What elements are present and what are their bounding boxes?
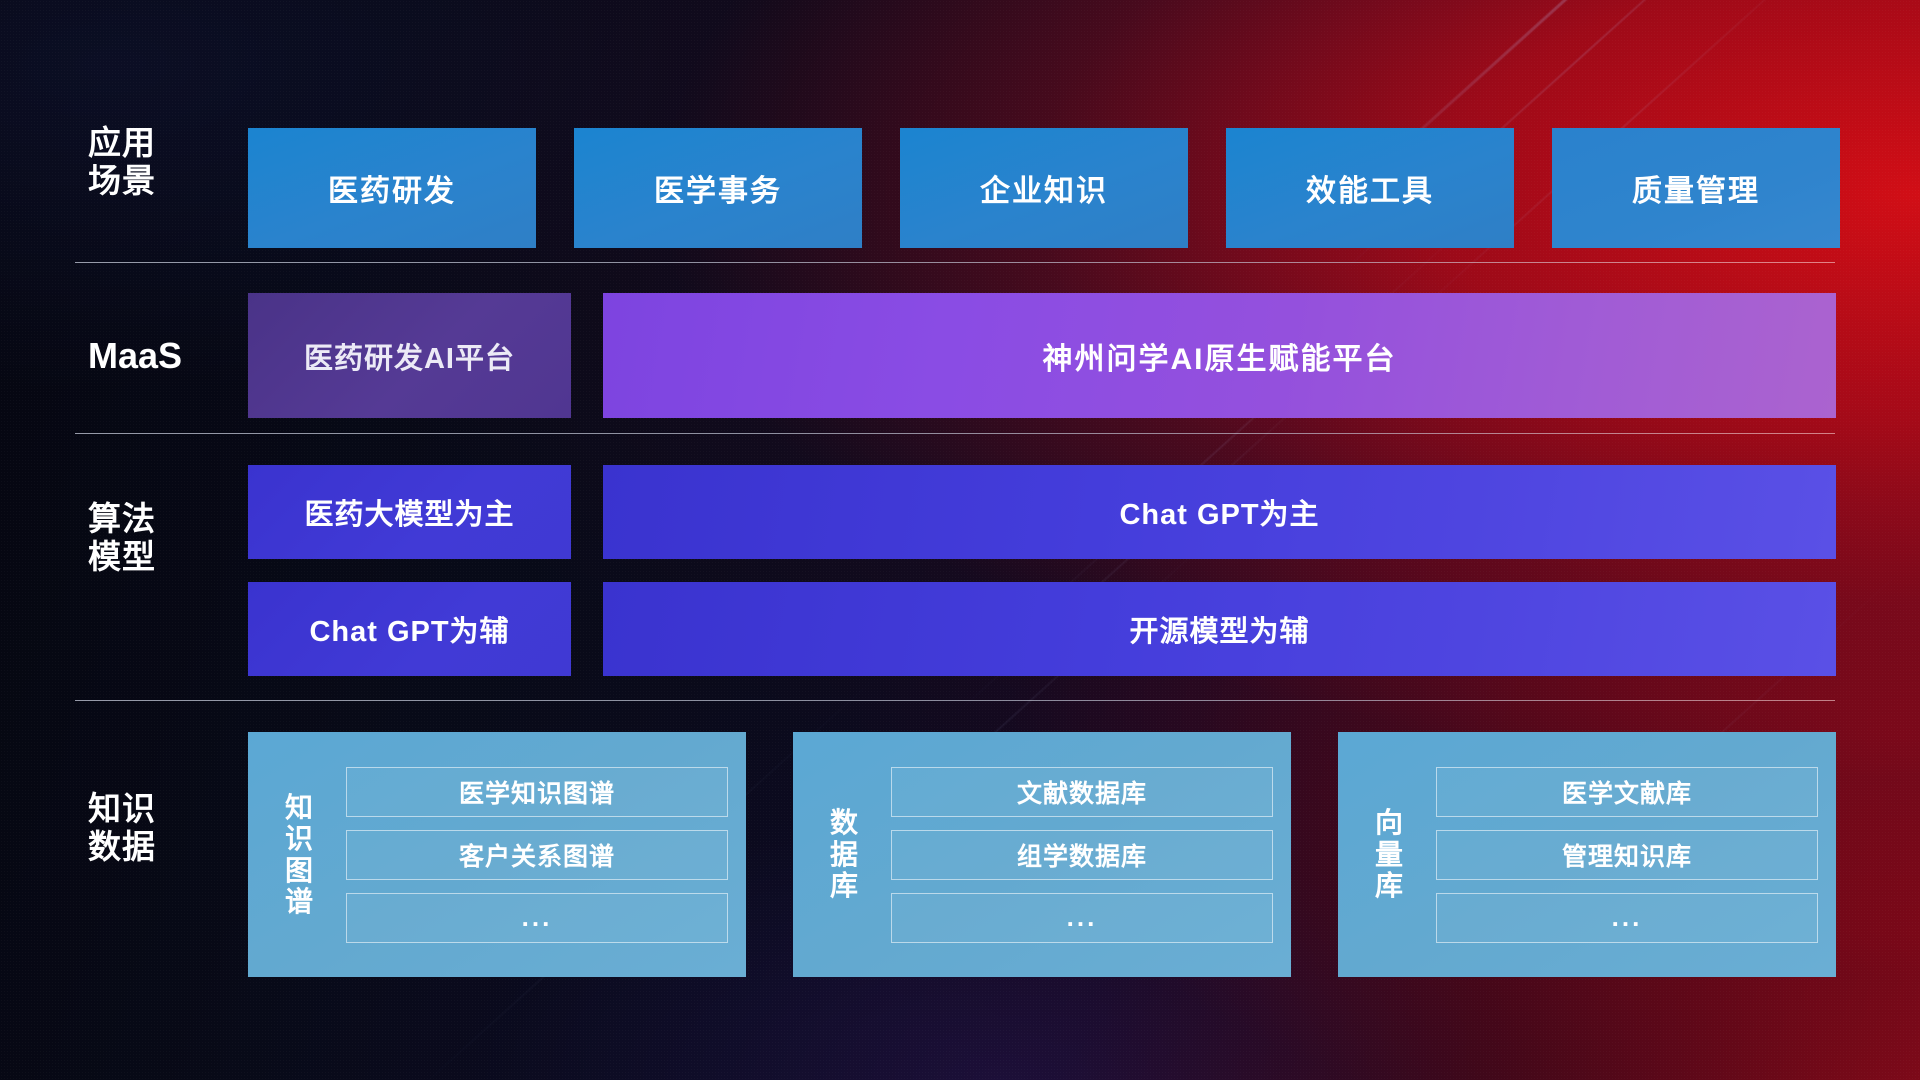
algorithm-right-0[interactable]: Chat GPT为主 bbox=[603, 465, 1836, 559]
maas-platform-medical-label: 医药研发AI平台 bbox=[304, 335, 515, 377]
knowledge-group-1: 数 据 库 文献数据库 组学数据库 ... bbox=[793, 732, 1291, 977]
knowledge-group-0-title: 知 识 图 谱 bbox=[270, 792, 328, 917]
algorithm-right-1-label: 开源模型为辅 bbox=[1129, 608, 1309, 650]
knowledge-item-2-2[interactable]: ... bbox=[1436, 893, 1818, 943]
knowledge-item-0-1[interactable]: 客户关系图谱 bbox=[346, 830, 728, 880]
maas-platform-shenzhou-label: 神州问学AI原生赋能平台 bbox=[1043, 334, 1397, 378]
knowledge-item-2-1-label: 管理知识库 bbox=[1562, 837, 1692, 873]
separator-algorithm-knowledge bbox=[75, 700, 1835, 701]
knowledge-group-0: 知 识 图 谱 医学知识图谱 客户关系图谱 ... bbox=[248, 732, 746, 977]
knowledge-item-0-0-label: 医学知识图谱 bbox=[459, 774, 615, 810]
knowledge-item-2-2-label: ... bbox=[1612, 902, 1643, 933]
scenario-card-3[interactable]: 效能工具 bbox=[1226, 128, 1514, 248]
algorithm-line-1: Chat GPT为辅 开源模型为辅 bbox=[248, 582, 1836, 676]
separator-scenario-maas bbox=[75, 262, 1835, 263]
row-label-maas-text: MaaS bbox=[88, 335, 220, 377]
knowledge-item-1-2[interactable]: ... bbox=[891, 893, 1273, 943]
knowledge-group-2-items: 医学文献库 管理知识库 ... bbox=[1436, 767, 1818, 943]
knowledge-item-0-0[interactable]: 医学知识图谱 bbox=[346, 767, 728, 817]
knowledge-item-1-0-label: 文献数据库 bbox=[1017, 774, 1147, 810]
row-label-maas: MaaS bbox=[88, 335, 220, 377]
knowledge-group-2-title: 向 量 库 bbox=[1360, 807, 1418, 901]
knowledge-item-1-0[interactable]: 文献数据库 bbox=[891, 767, 1273, 817]
algorithm-left-1-label: Chat GPT为辅 bbox=[309, 608, 509, 650]
row-label-scenario: 应用 场景 bbox=[88, 124, 220, 201]
row-label-knowledge-line2: 数据 bbox=[88, 828, 220, 866]
row-label-scenario-line1: 应用 bbox=[88, 124, 220, 162]
algorithm-row: 医药大模型为主 Chat GPT为主 Chat GPT为辅 开源模型为辅 bbox=[248, 465, 1836, 676]
scenario-card-0-label: 医药研发 bbox=[328, 166, 456, 210]
maas-platform-medical[interactable]: 医药研发AI平台 bbox=[248, 293, 571, 418]
knowledge-item-0-2[interactable]: ... bbox=[346, 893, 728, 943]
algorithm-left-0-label: 医药大模型为主 bbox=[304, 491, 514, 533]
scenario-card-4[interactable]: 质量管理 bbox=[1552, 128, 1840, 248]
maas-platform-shenzhou[interactable]: 神州问学AI原生赋能平台 bbox=[603, 293, 1836, 418]
knowledge-group-1-items: 文献数据库 组学数据库 ... bbox=[891, 767, 1273, 943]
algorithm-left-1[interactable]: Chat GPT为辅 bbox=[248, 582, 571, 676]
scenario-card-2[interactable]: 企业知识 bbox=[900, 128, 1188, 248]
row-label-scenario-line2: 场景 bbox=[88, 162, 220, 200]
knowledge-group-2: 向 量 库 医学文献库 管理知识库 ... bbox=[1338, 732, 1836, 977]
row-label-algorithm-line1: 算法 bbox=[88, 500, 220, 538]
scenario-card-3-label: 效能工具 bbox=[1306, 166, 1434, 210]
algorithm-right-0-label: Chat GPT为主 bbox=[1119, 491, 1319, 533]
separator-maas-algorithm bbox=[75, 433, 1835, 434]
knowledge-item-0-1-label: 客户关系图谱 bbox=[459, 837, 615, 873]
knowledge-item-1-1[interactable]: 组学数据库 bbox=[891, 830, 1273, 880]
algorithm-left-0[interactable]: 医药大模型为主 bbox=[248, 465, 571, 559]
scenario-card-0[interactable]: 医药研发 bbox=[248, 128, 536, 248]
knowledge-group-row: 知 识 图 谱 医学知识图谱 客户关系图谱 ... 数 据 库 文献数据库 组学… bbox=[248, 732, 1836, 977]
scenario-card-1[interactable]: 医学事务 bbox=[574, 128, 862, 248]
scenario-card-1-label: 医学事务 bbox=[654, 166, 782, 210]
row-label-algorithm-line2: 模型 bbox=[88, 538, 220, 576]
knowledge-group-0-items: 医学知识图谱 客户关系图谱 ... bbox=[346, 767, 728, 943]
knowledge-group-1-title: 数 据 库 bbox=[815, 807, 873, 901]
knowledge-item-2-1[interactable]: 管理知识库 bbox=[1436, 830, 1818, 880]
scenario-card-2-label: 企业知识 bbox=[980, 166, 1108, 210]
row-label-algorithm: 算法 模型 bbox=[88, 500, 220, 577]
knowledge-item-1-1-label: 组学数据库 bbox=[1017, 837, 1147, 873]
knowledge-item-1-2-label: ... bbox=[1067, 902, 1098, 933]
scenario-card-4-label: 质量管理 bbox=[1632, 166, 1760, 210]
row-label-knowledge: 知识 数据 bbox=[88, 790, 220, 867]
row-label-knowledge-line1: 知识 bbox=[88, 790, 220, 828]
knowledge-item-0-2-label: ... bbox=[522, 902, 553, 933]
knowledge-item-2-0-label: 医学文献库 bbox=[1562, 774, 1692, 810]
algorithm-right-1[interactable]: 开源模型为辅 bbox=[603, 582, 1836, 676]
knowledge-item-2-0[interactable]: 医学文献库 bbox=[1436, 767, 1818, 817]
maas-row: 医药研发AI平台 神州问学AI原生赋能平台 bbox=[248, 293, 1836, 418]
scenario-card-group: 医药研发 医学事务 企业知识 效能工具 质量管理 bbox=[248, 128, 1840, 248]
diagram-canvas: 应用 场景 医药研发 医学事务 企业知识 效能工具 质量管理 MaaS 医药研发… bbox=[0, 0, 1920, 1080]
algorithm-line-0: 医药大模型为主 Chat GPT为主 bbox=[248, 465, 1836, 559]
